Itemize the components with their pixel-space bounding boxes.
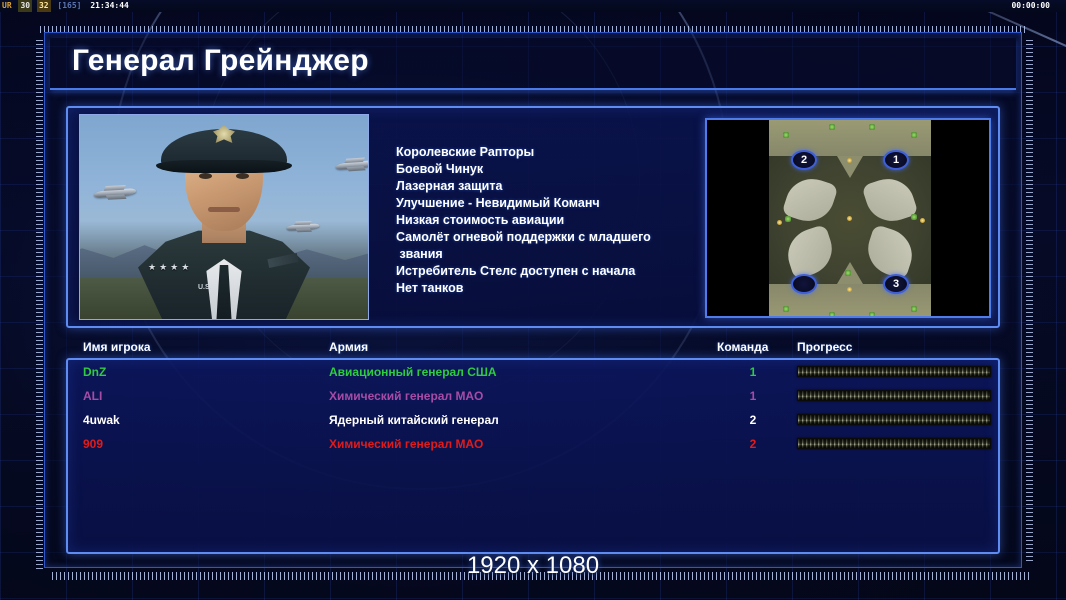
player-progress-bar: [797, 414, 991, 425]
ruler-left-decoration: [36, 40, 43, 570]
start-position-marker[interactable]: [791, 274, 817, 294]
table-row[interactable]: 909Химический генерал МАО2: [68, 432, 998, 456]
start-position-marker[interactable]: 1: [883, 150, 909, 170]
general-portrait: ★★★★ U.S.: [79, 114, 369, 320]
status-clock: 21:34:44: [88, 0, 131, 12]
player-name: DnZ: [83, 360, 106, 384]
oil-derrick-icon: [847, 158, 852, 163]
status-label: UR: [0, 0, 14, 12]
table-row[interactable]: ALIХимический генерал МАО1: [68, 384, 998, 408]
eye-right: [236, 173, 249, 179]
game-lobby-screen: UR 30 32 [165] 21:34:44 00:00:00 Генерал…: [0, 0, 1066, 600]
player-team: 2: [743, 432, 763, 456]
supply-icon: [829, 312, 835, 318]
map-preview[interactable]: 2 1 3: [705, 118, 991, 318]
terrain-ridge: [861, 172, 918, 228]
table-row[interactable]: DnZАвиационный генерал США1: [68, 360, 998, 384]
ability-line: Боевой Чинук: [396, 161, 696, 178]
player-progress-bar: [797, 366, 991, 377]
ruler-right-decoration: [1026, 40, 1033, 562]
player-army: Химический генерал МАО: [329, 384, 483, 408]
ability-line: Нет танков: [396, 280, 696, 297]
ability-line: Истребитель Стелс доступен с начала: [396, 263, 696, 280]
supply-icon: [911, 132, 917, 138]
status-bar: UR 30 32 [165] 21:34:44 00:00:00: [0, 0, 1066, 12]
oil-derrick-icon: [847, 287, 852, 292]
player-table: DnZАвиационный генерал США1ALIХимический…: [66, 358, 1000, 554]
ability-line: Королевские Рапторы: [396, 144, 696, 161]
supply-icon: [783, 306, 789, 312]
ability-line: Улучшение - Невидимый Команч: [396, 195, 696, 212]
oil-derrick-icon: [920, 218, 925, 223]
us-patch: U.S.: [198, 284, 212, 291]
player-army: Ядерный китайский генерал: [329, 408, 499, 432]
status-value-3: [165]: [55, 0, 83, 12]
player-team: 1: [743, 360, 763, 384]
column-header-progress: Прогресс: [797, 340, 852, 354]
player-team: 2: [743, 408, 763, 432]
supply-icon: [783, 132, 789, 138]
oil-derrick-icon: [777, 220, 782, 225]
column-header-team: Команда: [717, 340, 768, 354]
status-value-2: 32: [37, 0, 51, 12]
player-name: 909: [83, 432, 103, 456]
cap-visor: [156, 160, 292, 173]
player-table-header: Имя игрока Армия Команда Прогресс: [66, 338, 1000, 360]
player-name: ALI: [83, 384, 102, 408]
mouth: [208, 207, 240, 212]
supply-icon: [845, 270, 851, 276]
eye-left: [199, 173, 212, 179]
supply-icon: [869, 312, 875, 318]
supply-icon: [829, 124, 835, 130]
ability-line: звания: [396, 246, 696, 263]
table-row[interactable]: 4uwakЯдерный китайский генерал2: [68, 408, 998, 432]
rank-stars: ★★★★: [148, 262, 192, 273]
start-position-marker[interactable]: 3: [883, 274, 909, 294]
ability-line: Лазерная защита: [396, 178, 696, 195]
column-header-army: Армия: [329, 340, 368, 354]
player-rows: DnZАвиационный генерал США1ALIХимический…: [68, 360, 998, 456]
supply-icon: [785, 216, 791, 222]
column-header-name: Имя игрока: [83, 340, 151, 354]
terrain-band-top: [769, 120, 931, 156]
supply-icon: [869, 124, 875, 130]
status-value-1: 30: [18, 0, 32, 12]
player-name: 4uwak: [83, 408, 120, 432]
player-progress-bar: [797, 438, 991, 449]
match-timer: 00:00:00: [1011, 0, 1050, 12]
terrain-ridge: [781, 224, 838, 280]
supply-icon: [911, 306, 917, 312]
oil-derrick-icon: [847, 216, 852, 221]
ability-line: Самолёт огневой поддержки с младшего: [396, 229, 696, 246]
general-abilities-list: Королевские Рапторы Боевой Чинук Лазерна…: [396, 144, 696, 297]
page-title: Генерал Грейнджер: [72, 44, 369, 78]
terrain-ridge: [861, 224, 918, 280]
supply-icon: [911, 214, 917, 220]
ability-line: Низкая стоимость авиации: [396, 212, 696, 229]
minimap-terrain: 2 1 3: [769, 120, 931, 318]
player-team: 1: [743, 384, 763, 408]
general-figure: ★★★★ U.S.: [138, 123, 310, 319]
start-position-marker[interactable]: 2: [791, 150, 817, 170]
resolution-label: 1920 x 1080: [0, 552, 1066, 580]
player-army: Химический генерал МАО: [329, 432, 483, 456]
player-progress-bar: [797, 390, 991, 401]
player-army: Авиационный генерал США: [329, 360, 497, 384]
